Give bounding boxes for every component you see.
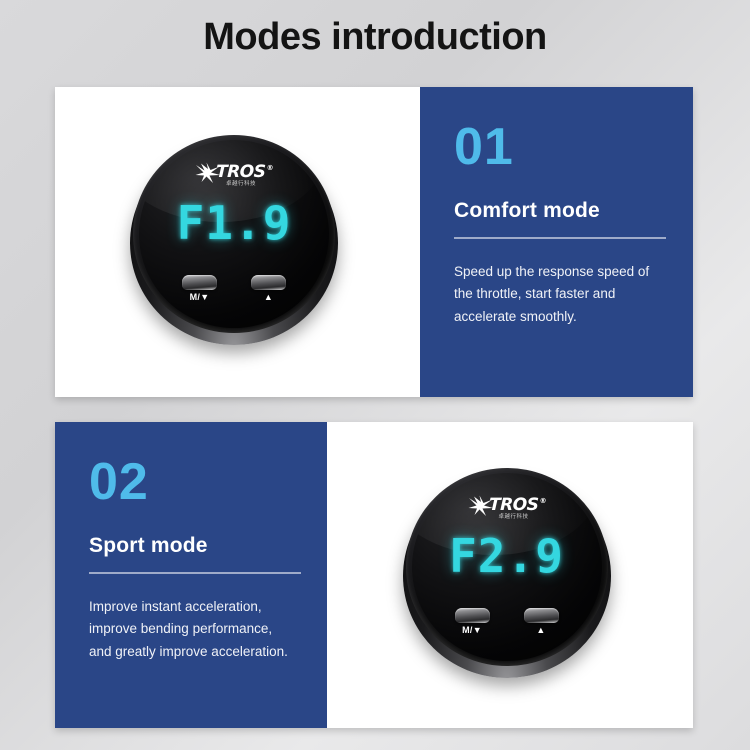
- device-button-row: M/▼ ▲: [139, 275, 329, 302]
- device-face: TROS® 卓越行科技 F1.9 M/▼ ▲: [139, 140, 329, 328]
- mode-title-comfort: Comfort mode: [454, 199, 663, 223]
- page-title: Modes introduction: [0, 16, 750, 59]
- device-button-row: M/▼ ▲: [412, 608, 602, 635]
- device-face: TROS® 卓越行科技 F2.9 M/▼ ▲: [412, 473, 602, 661]
- device-pane-comfort: TROS® 卓越行科技 F1.9 M/▼ ▲: [55, 87, 420, 397]
- mode-down-button-cap[interactable]: [455, 608, 490, 623]
- mode-down-button-cap[interactable]: [182, 275, 217, 290]
- up-button-label: ▲: [536, 626, 545, 635]
- up-button[interactable]: ▲: [251, 275, 286, 302]
- mode-description-sport: Improve instant acceleration, improve be…: [89, 596, 297, 663]
- mode-down-button-label: M/▼: [190, 293, 210, 302]
- up-button-label: ▲: [264, 293, 273, 302]
- brand-wordmark: TROS®: [216, 164, 273, 181]
- registered-mark: ®: [266, 164, 273, 172]
- device-pane-sport: TROS® 卓越行科技 F2.9 M/▼ ▲: [327, 422, 693, 728]
- mode-divider: [454, 237, 666, 239]
- brand-name-text: TROS: [216, 162, 266, 182]
- led-display: F1.9: [139, 196, 329, 250]
- mode-number-01: 01: [454, 121, 663, 173]
- brand-name-text: TROS: [488, 495, 538, 515]
- brand-logo: TROS® 卓越行科技: [412, 495, 602, 521]
- mode-description-comfort: Speed up the response speed of the throt…: [454, 261, 663, 328]
- mode-down-button[interactable]: M/▼: [182, 275, 217, 302]
- mode-number-02: 02: [89, 456, 297, 508]
- mode-card-sport: 02 Sport mode Improve instant accelerati…: [55, 422, 693, 728]
- registered-mark: ®: [539, 497, 546, 505]
- throttle-controller-device[interactable]: TROS® 卓越行科技 F1.9 M/▼ ▲: [130, 135, 345, 350]
- up-button[interactable]: ▲: [524, 608, 559, 635]
- mode-down-button[interactable]: M/▼: [455, 608, 490, 635]
- mode-down-button-label: M/▼: [462, 626, 482, 635]
- up-button-cap[interactable]: [524, 608, 559, 623]
- brand-logo: TROS® 卓越行科技: [139, 162, 329, 188]
- info-pane-sport: 02 Sport mode Improve instant accelerati…: [55, 422, 327, 728]
- mode-divider: [89, 572, 301, 574]
- mode-card-comfort: TROS® 卓越行科技 F1.9 M/▼ ▲: [55, 87, 693, 397]
- brand-wordmark: TROS®: [488, 497, 545, 514]
- brand-subtitle: 卓越行科技: [499, 515, 529, 521]
- throttle-controller-device[interactable]: TROS® 卓越行科技 F2.9 M/▼ ▲: [403, 468, 618, 683]
- mode-title-sport: Sport mode: [89, 534, 297, 558]
- up-button-cap[interactable]: [251, 275, 286, 290]
- led-display: F2.9: [412, 529, 602, 583]
- brand-subtitle: 卓越行科技: [226, 182, 256, 188]
- info-pane-comfort: 01 Comfort mode Speed up the response sp…: [420, 87, 693, 397]
